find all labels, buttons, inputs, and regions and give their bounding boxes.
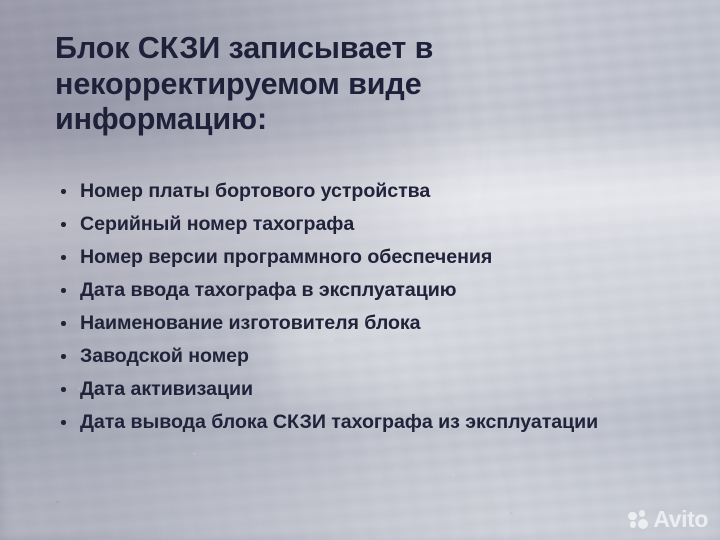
- list-item-label: Наименование изготовителя блока: [80, 312, 421, 334]
- bullet-dot-icon: [61, 222, 66, 227]
- list-item-label: Дата активизации: [80, 378, 253, 400]
- presentation-slide: Блок СКЗИ записывает в некорректируемом …: [0, 0, 720, 540]
- list-item: Дата активизации: [57, 376, 637, 403]
- list-item-label: Заводской номер: [80, 345, 249, 367]
- bullet-dot-icon: [61, 288, 66, 293]
- bullet-dot-icon: [61, 321, 66, 326]
- bullet-dot-icon: [61, 420, 66, 425]
- slide-content: Блок СКЗИ записывает в некорректируемом …: [0, 0, 720, 540]
- bullet-dot-icon: [61, 354, 66, 359]
- avito-watermark: Avito: [628, 508, 708, 531]
- bullet-dot-icon: [61, 387, 66, 392]
- bullet-dot-icon: [61, 255, 66, 260]
- bullet-dot-icon: [61, 189, 66, 194]
- information-bullet-list: Номер платы бортового устройства Серийны…: [57, 178, 637, 436]
- list-item: Наименование изготовителя блока: [57, 310, 637, 337]
- list-item: Номер версии программного обеспечения: [57, 244, 637, 271]
- list-item-label: Номер версии программного обеспечения: [80, 246, 492, 268]
- avito-wordmark: Avito: [653, 508, 708, 531]
- list-item: Серийный номер тахографа: [57, 211, 637, 238]
- list-item: Дата вывода блока СКЗИ тахографа из эксп…: [57, 409, 637, 436]
- list-item-label: Дата вывода блока СКЗИ тахографа из эксп…: [80, 411, 598, 433]
- list-item-label: Номер платы бортового устройства: [80, 180, 430, 202]
- avito-dots-logo-icon: [628, 510, 649, 529]
- list-item: Заводской номер: [57, 343, 637, 370]
- list-item: Дата ввода тахографа в эксплуатацию: [57, 277, 637, 304]
- list-item: Номер платы бортового устройства: [57, 178, 637, 205]
- slide-heading: Блок СКЗИ записывает в некорректируемом …: [55, 31, 615, 138]
- list-item-label: Дата ввода тахографа в эксплуатацию: [80, 279, 456, 301]
- list-item-label: Серийный номер тахографа: [80, 213, 354, 235]
